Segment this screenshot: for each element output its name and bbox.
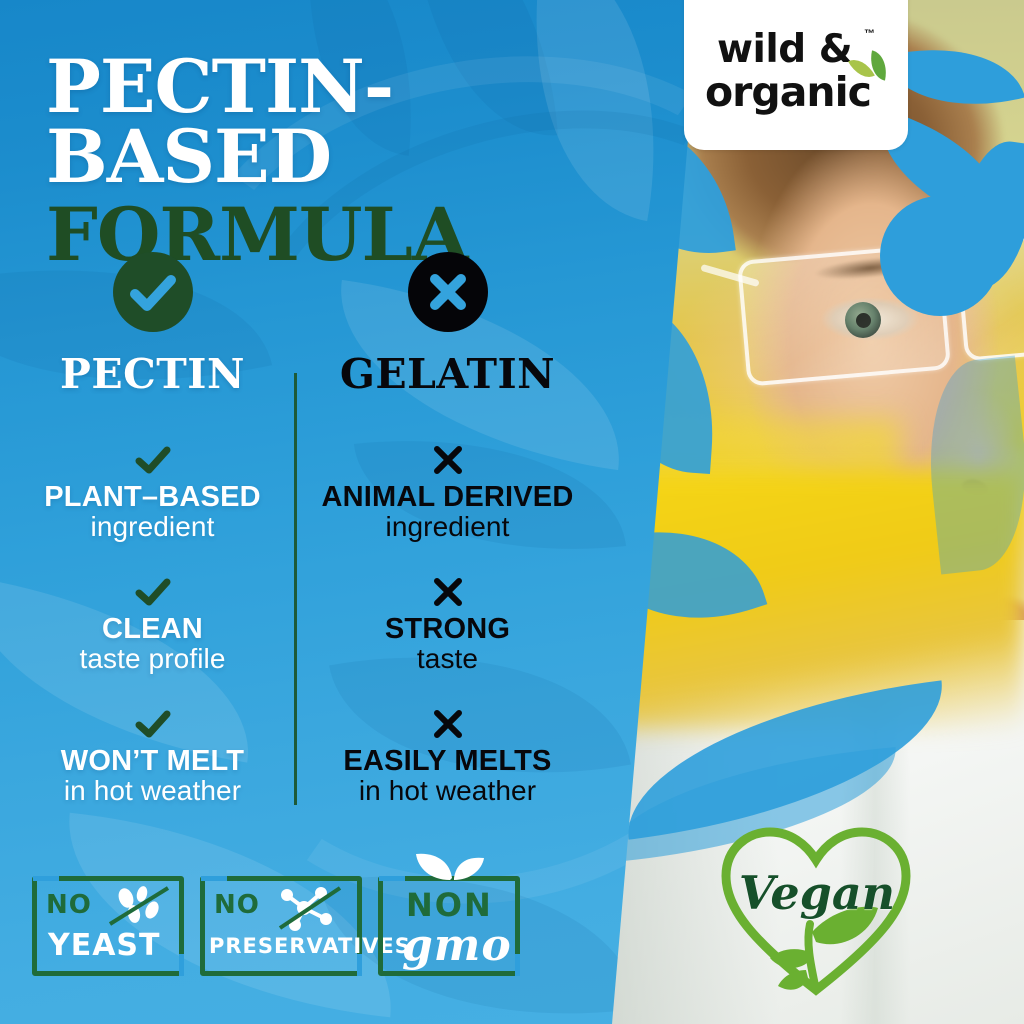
logo-line-2: organic <box>705 72 871 113</box>
stamp-top-label: NON <box>406 886 493 924</box>
list-item: ANIMAL DERIVED ingredient <box>305 438 590 542</box>
non-gmo-stamp[interactable]: NON gmo <box>378 862 520 976</box>
x-icon <box>305 438 590 482</box>
row-subtitle: in hot weather <box>10 776 295 806</box>
vegan-label: Vegan <box>734 870 900 916</box>
row-subtitle: taste <box>305 644 590 674</box>
row-title: CLEAN <box>10 614 295 644</box>
pectin-rows: PLANT–BASED ingredient CLEAN taste profi… <box>10 438 295 805</box>
stamp-bottom-label: YEAST <box>48 928 161 963</box>
list-item: PLANT–BASED ingredient <box>10 438 295 542</box>
row-subtitle: in hot weather <box>305 776 590 806</box>
row-subtitle: ingredient <box>10 512 295 542</box>
row-title: WON’T MELT <box>10 746 295 776</box>
check-circle-icon <box>113 252 193 332</box>
crossed-out-yeast-cells-icon <box>104 884 174 932</box>
infographic-canvas: wild & ™ organic PECTIN-BASED FORMULA PE… <box>0 0 1024 1024</box>
headline-block: PECTIN-BASED FORMULA <box>46 52 666 273</box>
check-icon <box>10 702 295 746</box>
list-item: WON’T MELT in hot weather <box>10 702 295 806</box>
leaf-pair-icon <box>412 850 490 884</box>
row-title: PLANT–BASED <box>10 482 295 512</box>
no-preservatives-stamp[interactable]: NO PRESERVATIVES <box>200 876 362 976</box>
x-circle-icon <box>408 252 488 332</box>
logo-line-1: wild & <box>717 30 852 69</box>
list-item: CLEAN taste profile <box>10 570 295 674</box>
row-title: EASILY MELTS <box>305 746 590 776</box>
column-pectin: PECTIN PLANT–BASED ingredient CLEAN tast… <box>10 252 295 395</box>
comparison-section: PECTIN PLANT–BASED ingredient CLEAN tast… <box>0 252 600 822</box>
brand-logo-badge[interactable]: wild & ™ organic <box>684 0 908 150</box>
stamp-bottom-label: gmo <box>402 920 512 971</box>
check-icon <box>10 438 295 482</box>
x-icon <box>305 702 590 746</box>
column-title-pectin: PECTIN <box>10 354 295 395</box>
certification-stamps: NO YEAST NO PRESERVATIVES <box>32 876 552 986</box>
stamp-top-label: NO <box>214 890 260 920</box>
gelatin-rows: ANIMAL DERIVED ingredient STRONG taste E… <box>305 438 590 805</box>
column-gelatin: GELATIN ANIMAL DERIVED ingredient STRONG… <box>305 252 590 395</box>
trademark-icon: ™ <box>864 28 875 40</box>
vegan-badge[interactable]: Vegan <box>706 812 926 1012</box>
list-item: STRONG taste <box>305 570 590 674</box>
column-title-gelatin: GELATIN <box>305 354 590 395</box>
crossed-out-molecule-icon <box>274 882 348 934</box>
x-icon <box>305 570 590 614</box>
headline-line-1: PECTIN-BASED <box>46 52 666 192</box>
check-icon <box>10 570 295 614</box>
row-subtitle: taste profile <box>10 644 295 674</box>
row-title: ANIMAL DERIVED <box>305 482 590 512</box>
list-item: EASILY MELTS in hot weather <box>305 702 590 806</box>
stamp-top-label: NO <box>46 890 92 920</box>
no-yeast-stamp[interactable]: NO YEAST <box>32 876 184 976</box>
row-title: STRONG <box>305 614 590 644</box>
row-subtitle: ingredient <box>305 512 590 542</box>
